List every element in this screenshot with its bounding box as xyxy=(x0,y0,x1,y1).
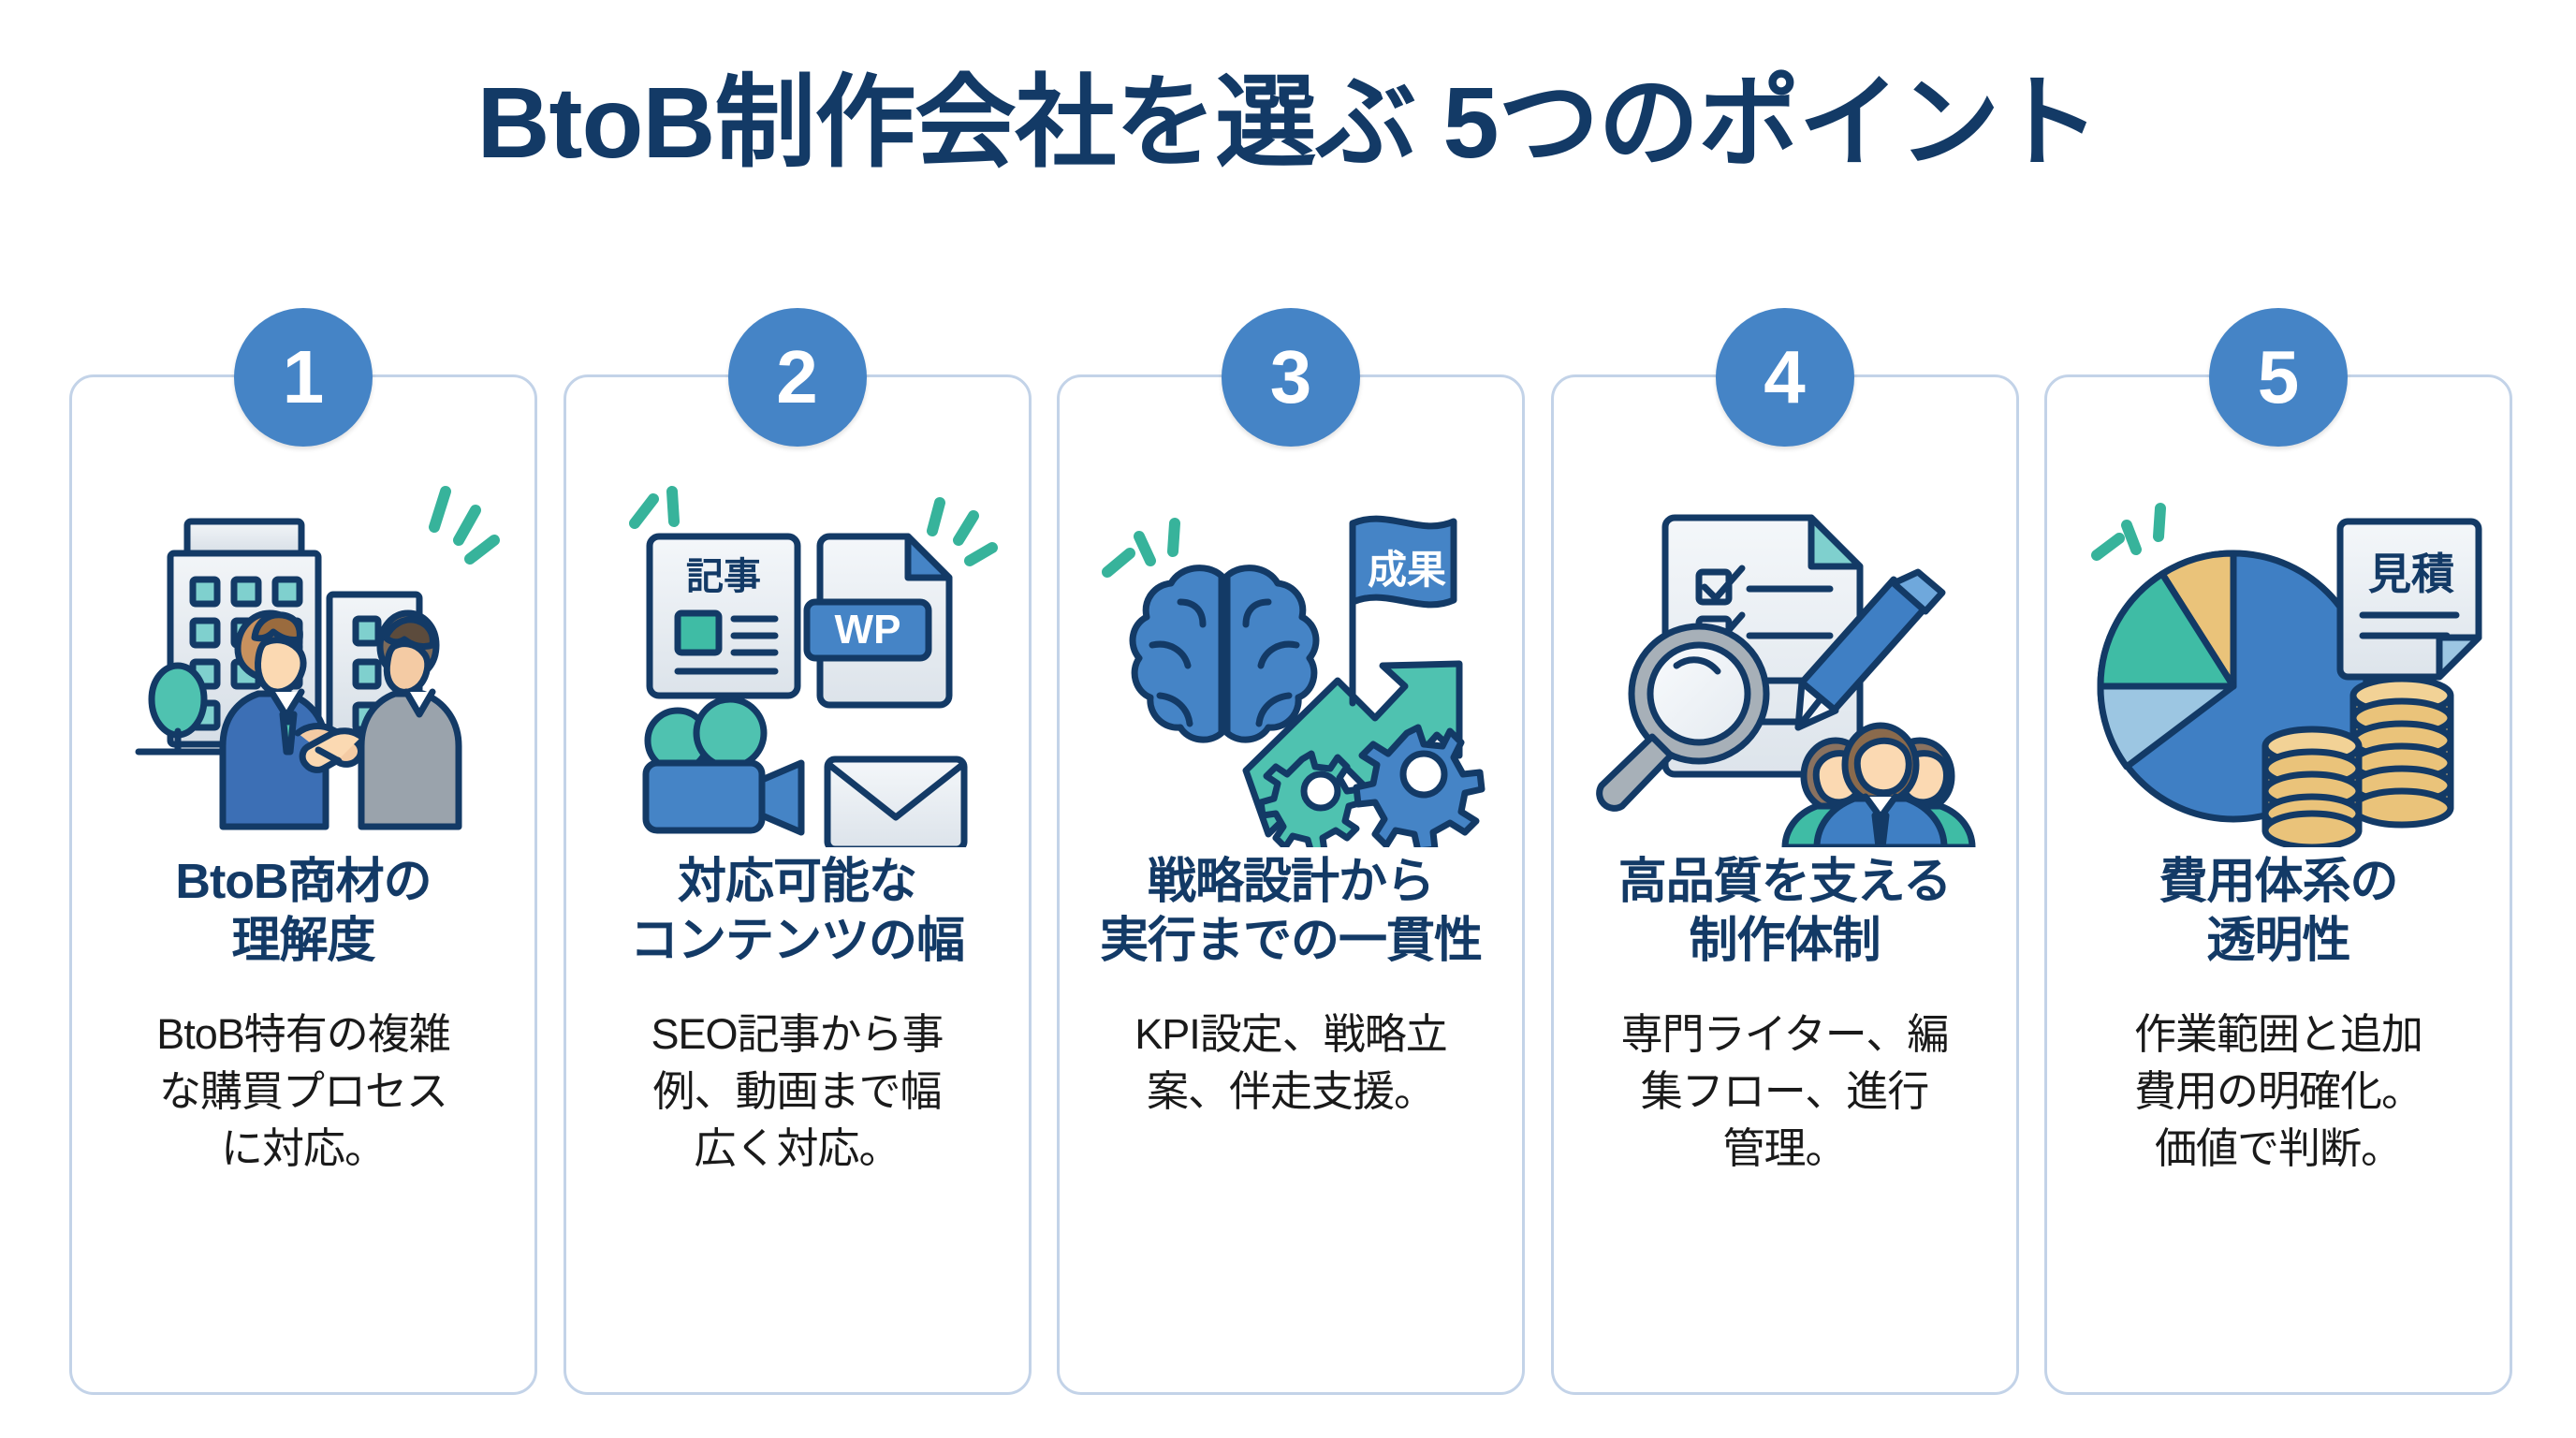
illustration-checklist-team xyxy=(1579,482,1991,847)
sparkle-icon xyxy=(2097,508,2160,555)
sparkle-icon xyxy=(1107,523,1175,572)
card-body-4: 専門ライター、編集フロー、進行管理。 xyxy=(1574,1005,1996,1178)
video-camera-icon xyxy=(646,699,801,832)
point-card-4[interactable]: 4 xyxy=(1551,374,2019,1395)
card-heading-3: 戦略設計から実行までの一貫性 xyxy=(1080,853,1501,972)
page-title: BtoB制作会社を選ぶ 5つのポイント xyxy=(0,67,2576,179)
card-heading-4: 高品質を支える制作体制 xyxy=(1574,853,1996,972)
point-card-1[interactable]: 1 xyxy=(69,374,537,1395)
sparkle-icon xyxy=(434,492,494,559)
point-number-badge-5: 5 xyxy=(2209,308,2348,447)
points-card-row: 1 xyxy=(69,374,2512,1395)
illustration-content-types: 記事 WP xyxy=(592,482,1003,847)
point-card-3[interactable]: 3 xyxy=(1057,374,1525,1395)
wp-label: WP xyxy=(834,607,900,653)
gear-icon-teal xyxy=(1261,754,1362,847)
card-heading-5: 費用体系の透明性 xyxy=(2068,853,2489,972)
illustration-brain-growth-gears: 成果 xyxy=(1085,482,1497,847)
point-number-badge-2: 2 xyxy=(728,308,867,447)
illustration-pie-coins-quote: 見積 xyxy=(2072,482,2484,847)
point-card-2[interactable]: 2 xyxy=(563,374,1032,1395)
card-body-3: KPI設定、戦略立案、伴走支援。 xyxy=(1080,1005,1501,1120)
magnifier-icon xyxy=(1599,626,1765,808)
point-number-badge-4: 4 xyxy=(1716,308,1854,447)
gear-icon-blue xyxy=(1356,727,1482,847)
card-body-2: SEO記事から事例、動画まで幅広く対応。 xyxy=(587,1005,1008,1178)
card-body-5: 作業範囲と追加費用の明確化。価値で判断。 xyxy=(2068,1005,2489,1178)
envelope-icon xyxy=(827,759,964,847)
quote-label: 見積 xyxy=(2368,550,2454,598)
result-flag-label: 成果 xyxy=(1368,548,1446,592)
quote-document-icon: 見積 xyxy=(2340,521,2479,677)
card-heading-2: 対応可能なコンテンツの幅 xyxy=(587,853,1008,972)
article-document-icon: 記事 xyxy=(650,536,798,696)
brain-icon xyxy=(1133,568,1316,741)
infographic-canvas: BtoB制作会社を選ぶ 5つのポイント 1 xyxy=(0,0,2576,1438)
article-label: 記事 xyxy=(686,556,761,597)
wordpress-file-icon: WP xyxy=(807,536,949,705)
card-heading-1: BtoB商材の理解度 xyxy=(93,853,514,972)
point-card-5[interactable]: 5 xyxy=(2044,374,2512,1395)
point-number-badge-3: 3 xyxy=(1222,308,1360,447)
card-body-1: BtoB特有の複雑な購買プロセスに対応。 xyxy=(93,1005,514,1178)
illustration-handshake-buildings xyxy=(97,482,509,847)
point-number-badge-1: 1 xyxy=(234,308,373,447)
